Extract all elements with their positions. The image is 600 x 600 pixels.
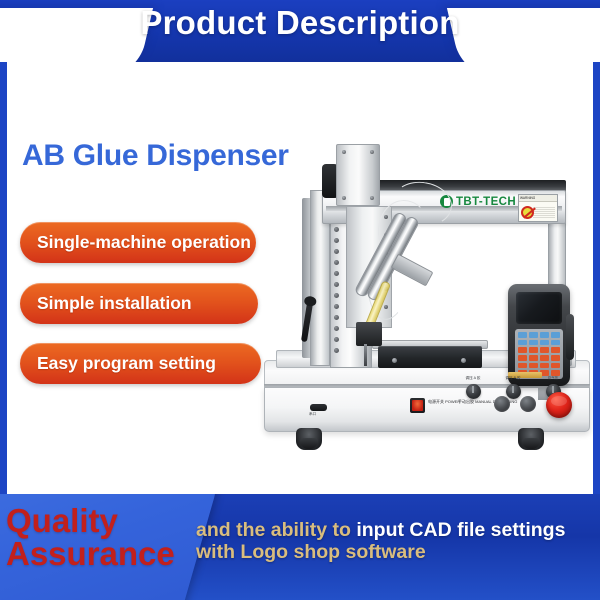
machine-foot-left — [296, 428, 322, 450]
feature-pill-simple-installation: Simple installation — [20, 283, 258, 324]
pendant-screen — [516, 292, 562, 324]
quality-line-1: Quality — [6, 505, 175, 538]
footer-banner: Quality Assurance and the ability to inp… — [0, 494, 600, 600]
panel-connector-1 — [494, 396, 510, 412]
footer-text-highlight: input CAD file settings — [356, 519, 565, 541]
quality-line-2: Assurance — [6, 538, 175, 571]
fixture-screw-left — [392, 358, 397, 363]
knob-label-b: 调压 B 胶 — [503, 377, 523, 381]
header-banner: Product Description — [0, 0, 600, 62]
footer-text-part-1: and the ability to — [196, 519, 356, 541]
nozzle-block — [356, 322, 382, 346]
power-switch-label: 电源开关 POWER — [428, 399, 460, 404]
machine-dispensing-head — [334, 184, 474, 354]
power-switch — [410, 398, 425, 413]
pendant-grip — [566, 314, 574, 360]
product-description-banner: Product Description AB Glue Dispenser Si… — [0, 0, 600, 600]
serial-port-label: 串口 — [309, 412, 316, 417]
feature-pill-easy-program-setting: Easy program setting — [20, 343, 261, 384]
knob-label-main: 总气压 — [543, 377, 563, 381]
emergency-stop-button — [546, 392, 572, 418]
footer-description: and the ability to input CAD file settin… — [196, 520, 590, 564]
no-entry-icon — [521, 206, 534, 219]
pressure-knob-a — [466, 384, 481, 399]
warning-label: WARNING — [518, 194, 558, 222]
warning-label-lines — [533, 207, 555, 218]
product-headline: AB Glue Dispenser — [22, 139, 289, 173]
serial-port — [310, 404, 327, 411]
page-title: Product Description — [0, 4, 600, 42]
machine-foot-right — [518, 428, 544, 450]
knob-label-a: 调压 A 胶 — [463, 377, 483, 381]
feature-pill-single-machine-operation: Single-machine operation — [20, 222, 256, 263]
quality-assurance-label: Quality Assurance — [6, 505, 175, 570]
panel-connector-2 — [520, 396, 536, 412]
pressure-knob-b — [506, 384, 521, 399]
footer-text-part-2: with Logo shop software — [196, 541, 426, 563]
teach-pendant — [508, 284, 570, 386]
dispensing-needle — [364, 344, 367, 366]
warning-label-title: WARNING — [519, 195, 557, 202]
fixture-screw-right — [461, 358, 466, 363]
product-photo-ab-glue-dispenser: TBT-TECH WARNING — [262, 132, 594, 472]
